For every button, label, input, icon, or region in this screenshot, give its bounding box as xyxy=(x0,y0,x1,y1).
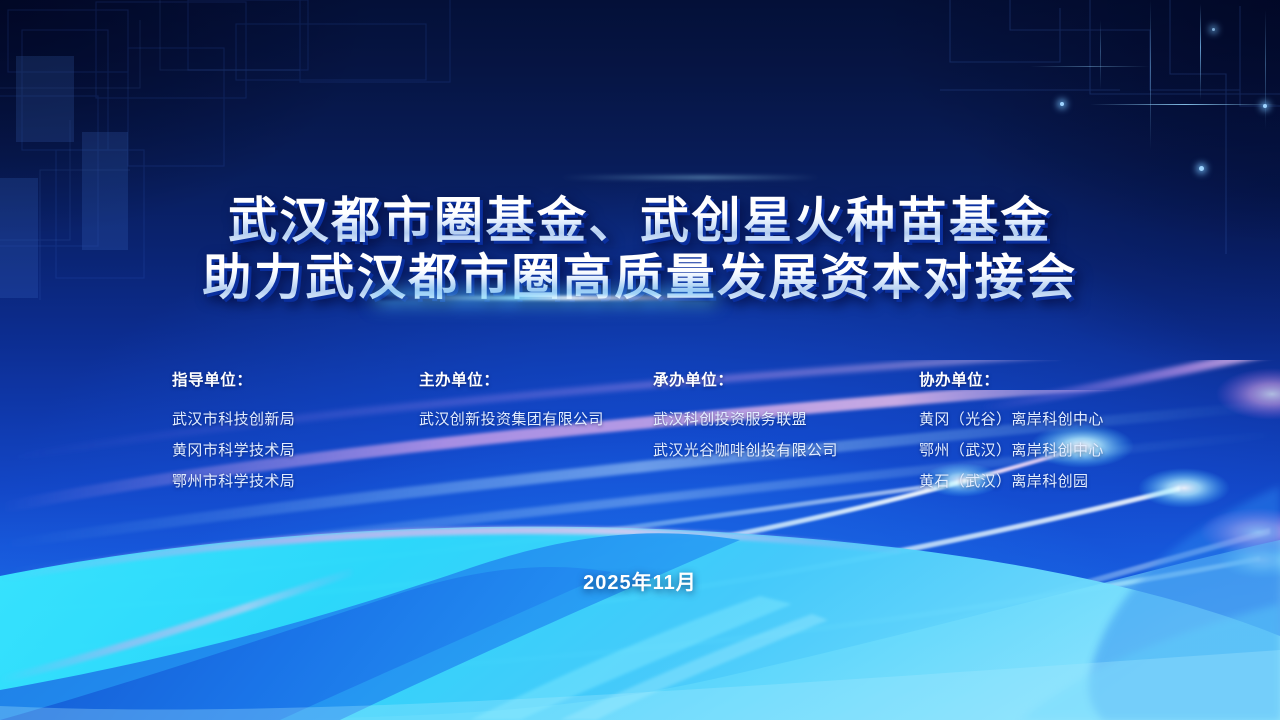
event-poster: 武汉都市圈基金、武创星火种苗基金 助力武汉都市圈高质量发展资本对接会 指导单位：… xyxy=(0,0,1280,720)
poster-title: 武汉都市圈基金、武创星火种苗基金 助力武汉都市圈高质量发展资本对接会 xyxy=(0,192,1280,306)
event-date: 2025年11月 xyxy=(0,566,1280,595)
org-item: 武汉科创投资服务联盟 xyxy=(653,404,838,435)
org-item: 黄冈（光谷）离岸科创中心 xyxy=(919,404,1104,435)
org-heading: 协办单位： xyxy=(919,368,1104,390)
org-column-host: 主办单位： 武汉创新投资集团有限公司 xyxy=(419,368,604,435)
org-column-guidance: 指导单位： 武汉市科技创新局 黄冈市科学技术局 鄂州市科学技术局 xyxy=(172,368,295,497)
poster-content: 武汉都市圈基金、武创星火种苗基金 助力武汉都市圈高质量发展资本对接会 指导单位：… xyxy=(0,0,1280,720)
org-heading: 主办单位： xyxy=(419,368,604,390)
title-light-streak xyxy=(380,296,710,300)
org-item: 鄂州（武汉）离岸科创中心 xyxy=(919,435,1104,466)
org-item: 黄冈市科学技术局 xyxy=(172,435,295,466)
organizer-columns: 指导单位： 武汉市科技创新局 黄冈市科学技术局 鄂州市科学技术局 主办单位： 武… xyxy=(0,368,1280,508)
org-item: 武汉创新投资集团有限公司 xyxy=(419,404,604,435)
org-item: 鄂州市科学技术局 xyxy=(172,466,295,497)
org-item: 黄石（武汉）离岸科创园 xyxy=(919,466,1104,497)
org-column-coorganizer: 协办单位： 黄冈（光谷）离岸科创中心 鄂州（武汉）离岸科创中心 黄石（武汉）离岸… xyxy=(919,368,1104,497)
org-item: 武汉市科技创新局 xyxy=(172,404,295,435)
org-item: 武汉光谷咖啡创投有限公司 xyxy=(653,435,838,466)
org-column-organizer: 承办单位： 武汉科创投资服务联盟 武汉光谷咖啡创投有限公司 xyxy=(653,368,838,466)
org-heading: 承办单位： xyxy=(653,368,838,390)
org-heading: 指导单位： xyxy=(172,368,295,390)
title-light-streak-top xyxy=(560,176,820,179)
title-line-1: 武汉都市圈基金、武创星火种苗基金 xyxy=(0,192,1280,249)
